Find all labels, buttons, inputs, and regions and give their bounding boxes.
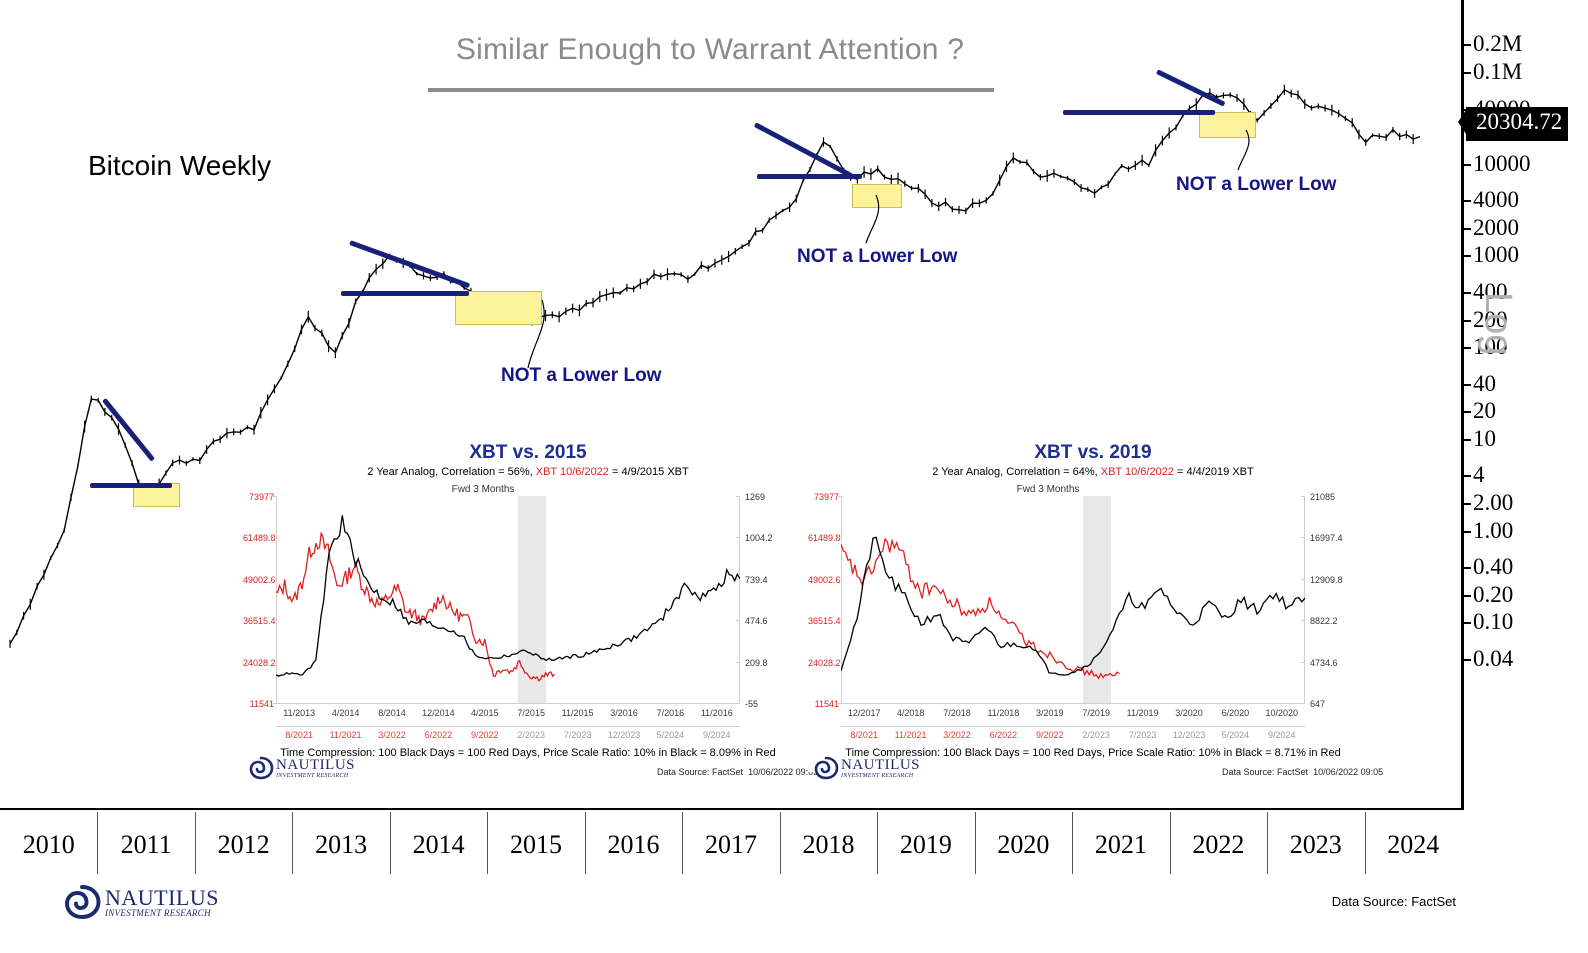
inset-x-label-black: 10/2020 — [1259, 708, 1305, 718]
annotation-not-a-lower-low-2022: NOT a Lower Low — [1176, 174, 1336, 196]
leader-line-2022 — [1230, 130, 1270, 172]
inset-right-axis-tick — [736, 579, 740, 580]
inset-x-label-black: 4/2014 — [322, 708, 368, 718]
year-axis-label: 2017 — [682, 830, 779, 860]
inset-x-label-red: 9/2024 — [694, 730, 740, 740]
inset-chart-xbt-vs-2019[interactable]: XBT vs. 2019 2 Year Analog, Correlation … — [808, 440, 1378, 772]
year-axis-label: 2010 — [0, 830, 97, 860]
nautilus-shell-icon — [813, 756, 839, 780]
year-axis-label: 2016 — [585, 830, 682, 860]
inset-x-label-black: 3/2019 — [1027, 708, 1073, 718]
footer-logo-sub: INVESTMENT RESEARCH — [105, 909, 219, 918]
inset-axis-bottom2 — [276, 726, 740, 727]
year-axis-cell[interactable]: 2014 — [390, 812, 487, 874]
inset-axis-bottom2 — [841, 726, 1305, 727]
inset-logo-sub: INVESTMENT RESEARCH — [276, 773, 355, 779]
inset-x-label-black: 11/2018 — [980, 708, 1026, 718]
inset-left-axis-tick — [838, 537, 842, 538]
inset-right-axis-tick — [736, 537, 740, 538]
inset-x-label-red: 9/2022 — [1027, 730, 1073, 740]
year-axis-label: 2019 — [877, 830, 974, 860]
price-tick-label: 4 — [1473, 462, 1485, 488]
footer-data-source: Data Source: FactSet — [1332, 894, 1456, 909]
inset-title: XBT vs. 2015 — [243, 442, 813, 464]
inset-source-text: Data Source: FactSet — [1222, 767, 1308, 777]
year-axis-label: 2020 — [975, 830, 1072, 860]
year-axis-cell[interactable]: 2013 — [292, 812, 389, 874]
inset-subtitle: 2 Year Analog, Correlation = 56%, XBT 10… — [243, 466, 813, 478]
inset-subtitle-b: = 4/9/2015 XBT — [609, 466, 689, 478]
inset-right-axis-label: 12909.8 — [1310, 575, 1343, 585]
inset-right-axis-label: 209.8 — [745, 658, 768, 668]
inset-right-axis-tick — [1301, 662, 1305, 663]
year-axis-label: 2021 — [1072, 830, 1169, 860]
inset-x-label-black: 4/2015 — [462, 708, 508, 718]
inset-left-axis-tick — [273, 537, 277, 538]
fwd-months-label: Fwd 3 Months — [363, 484, 603, 495]
inset-x-label-black: 11/2019 — [1119, 708, 1165, 718]
inset-x-label-black: 3/2020 — [1166, 708, 1212, 718]
inset-right-axis-label: 647 — [1310, 699, 1325, 709]
inset-left-axis-tick — [838, 579, 842, 580]
inset-right-axis-label: -55 — [745, 699, 758, 709]
inset-subtitle-red: XBT 10/6/2022 — [536, 466, 609, 478]
price-tick-label: 1000 — [1473, 242, 1519, 268]
inset-left-axis-tick — [273, 496, 277, 497]
inset-series-svg — [276, 496, 740, 703]
inset-left-axis-label: 36515.4 — [808, 616, 839, 626]
inset-left-axis-tick — [838, 496, 842, 497]
price-tick-label: 0.10 — [1473, 609, 1513, 635]
inset-left-axis-tick — [273, 662, 277, 663]
inset-x-label-red: 11/2021 — [887, 730, 933, 740]
inset-x-label-black: 4/2018 — [887, 708, 933, 718]
year-axis-cell[interactable]: 2021 — [1072, 812, 1169, 874]
inset-left-axis-label: 36515.4 — [243, 616, 274, 626]
inset-x-label-red: 5/2024 — [1212, 730, 1258, 740]
year-axis-label: 2024 — [1365, 830, 1462, 860]
inset-source-text: Data Source: FactSet — [657, 767, 743, 777]
inset-left-axis-tick — [273, 620, 277, 621]
last-price-badge: 20304.72 — [1466, 107, 1568, 141]
price-tick-label: 1.00 — [1473, 518, 1513, 544]
inset-x-label-red: 7/2023 — [1119, 730, 1165, 740]
inset-x-label-red: 7/2023 — [554, 730, 600, 740]
inset-x-label-black: 6/2020 — [1212, 708, 1258, 718]
inset-x-label-red: 6/2022 — [980, 730, 1026, 740]
year-axis-cell[interactable]: 2010 — [0, 812, 97, 874]
inset-right-axis-tick — [1301, 620, 1305, 621]
inset-left-axis-label: 73977 — [808, 492, 839, 502]
year-axis-label: 2022 — [1170, 830, 1267, 860]
year-axis-label: 2015 — [487, 830, 584, 860]
leader-line-2015 — [520, 300, 580, 370]
inset-x-label-red: 6/2022 — [415, 730, 461, 740]
inset-x-label-red: 5/2024 — [647, 730, 693, 740]
inset-logo-sub: INVESTMENT RESEARCH — [841, 773, 920, 779]
year-axis-cell[interactable]: 2012 — [195, 812, 292, 874]
inset-right-axis-label: 21085 — [1310, 492, 1335, 502]
inset-subtitle-b: = 4/4/2019 XBT — [1174, 466, 1254, 478]
price-tick-label: 2.00 — [1473, 490, 1513, 516]
plot-bottom-border — [0, 808, 1462, 810]
price-tick-label: 4000 — [1473, 187, 1519, 213]
nautilus-shell-icon — [248, 756, 274, 780]
annotation-not-a-lower-low-2015: NOT a Lower Low — [501, 365, 661, 387]
inset-right-axis-tick — [736, 496, 740, 497]
inset-left-axis-tick — [838, 703, 842, 704]
inset-title: XBT vs. 2019 — [808, 442, 1378, 464]
inset-left-axis-label: 24028.2 — [243, 658, 274, 668]
inset-right-axis-tick — [736, 620, 740, 621]
year-axis-cell[interactable]: 2024 — [1365, 812, 1462, 874]
inset-x-label-red: 2/2023 — [1073, 730, 1119, 740]
year-axis-cell[interactable]: 2019 — [877, 812, 974, 874]
price-tick-label: 0.04 — [1473, 646, 1513, 672]
inset-right-axis-label: 8822.2 — [1310, 616, 1338, 626]
support-2018-horizontal — [757, 174, 862, 179]
inset-left-axis-tick — [838, 662, 842, 663]
inset-logo-main: NAUTILUS — [841, 758, 920, 773]
inset-subtitle-a: 2 Year Analog, Correlation = 56%, — [367, 466, 535, 478]
year-axis-cell[interactable]: 2023 — [1267, 812, 1364, 874]
price-tick-label: 2000 — [1473, 215, 1519, 241]
year-axis-cell[interactable]: 2011 — [97, 812, 194, 874]
inset-source: Data Source: FactSet 10/06/2022 09:05 — [1222, 767, 1383, 777]
inset-left-axis-label: 11541 — [243, 699, 274, 709]
support-2022-horizontal — [1063, 110, 1215, 115]
price-tick-label: 10000 — [1473, 151, 1531, 177]
fwd-months-label: Fwd 3 Months — [928, 484, 1168, 495]
inset-x-label-black: 11/2016 — [694, 708, 740, 718]
year-axis-label: 2014 — [390, 830, 487, 860]
year-axis-cell[interactable]: 2016 — [585, 812, 682, 874]
inset-right-axis-label: 1269 — [745, 492, 765, 502]
year-axis-label: 2013 — [292, 830, 389, 860]
inset-subtitle: 2 Year Analog, Correlation = 64%, XBT 10… — [808, 466, 1378, 478]
inset-x-label-black: 7/2015 — [508, 708, 554, 718]
inset-left-axis-label: 73977 — [243, 492, 274, 502]
inset-source: Data Source: FactSet 10/06/2022 09:05 — [657, 767, 818, 777]
inset-logo: NAUTILUS INVESTMENT RESEARCH — [813, 756, 920, 780]
inset-logo: NAUTILUS INVESTMENT RESEARCH — [248, 756, 355, 780]
inset-left-axis-label: 61489.8 — [243, 533, 274, 543]
price-tick-label: 0.40 — [1473, 554, 1513, 580]
inset-x-label-red: 12/2023 — [1166, 730, 1212, 740]
year-axis-label: 2012 — [195, 830, 292, 860]
inset-x-label-red: 12/2023 — [601, 730, 647, 740]
year-axis-label: 2023 — [1267, 830, 1364, 860]
inset-left-axis-tick — [273, 703, 277, 704]
price-tick-label: 0.20 — [1473, 582, 1513, 608]
inset-right-axis-tick — [1301, 496, 1305, 497]
inset-axis-bottom — [276, 703, 740, 704]
inset-right-axis-tick — [1301, 579, 1305, 580]
inset-right-axis-tick — [1301, 537, 1305, 538]
year-axis-cell[interactable]: 2017 — [682, 812, 779, 874]
year-axis[interactable]: 2010201120122013201420152016201720182019… — [0, 812, 1462, 874]
inset-logo-main: NAUTILUS — [276, 758, 355, 773]
inset-right-axis-label: 4734.6 — [1310, 658, 1338, 668]
inset-x-label-red: 9/2022 — [462, 730, 508, 740]
footer-logo: NAUTILUS INVESTMENT RESEARCH — [62, 884, 219, 920]
inset-x-label-black: 7/2019 — [1073, 708, 1119, 718]
inset-left-axis-label: 61489.8 — [808, 533, 839, 543]
inset-subtitle-a: 2 Year Analog, Correlation = 64%, — [932, 466, 1100, 478]
price-tick-label: 10 — [1473, 426, 1496, 452]
inset-left-axis-label: 11541 — [808, 699, 839, 709]
inset-x-label-black: 12/2017 — [841, 708, 887, 718]
inset-x-label-black: 12/2014 — [415, 708, 461, 718]
inset-x-label-red: 3/2022 — [934, 730, 980, 740]
inset-x-label-black: 7/2018 — [934, 708, 980, 718]
inset-right-axis-tick — [736, 662, 740, 663]
inset-left-axis-label: 24028.2 — [808, 658, 839, 668]
inset-x-label-black: 11/2013 — [276, 708, 322, 718]
inset-axis-bottom — [841, 703, 1305, 704]
year-axis-cell[interactable]: 2020 — [975, 812, 1072, 874]
price-tick-label: 20 — [1473, 398, 1496, 424]
inset-left-axis-tick — [838, 620, 842, 621]
footer-logo-main: NAUTILUS — [105, 887, 219, 909]
year-axis-label: 2018 — [780, 830, 877, 860]
year-axis-cell[interactable]: 2022 — [1170, 812, 1267, 874]
log-scale-label: Log — [1476, 292, 1519, 355]
year-axis-cell[interactable]: 2015 — [487, 812, 584, 874]
inset-right-axis-label: 739.4 — [745, 575, 768, 585]
inset-timestamp: 10/06/2022 09:05 — [1313, 767, 1383, 777]
inset-left-axis-label: 49002.6 — [243, 575, 274, 585]
price-tick-label: 0.2M — [1473, 31, 1522, 57]
inset-left-axis-label: 49002.6 — [808, 575, 839, 585]
inset-right-axis-tick — [1301, 703, 1305, 704]
inset-chart-xbt-vs-2015[interactable]: XBT vs. 2015 2 Year Analog, Correlation … — [243, 440, 813, 772]
support-2015-horizontal — [341, 291, 469, 296]
year-axis-cell[interactable]: 2018 — [780, 812, 877, 874]
inset-x-label-black: 3/2016 — [601, 708, 647, 718]
inset-right-axis-label: 474.6 — [745, 616, 768, 626]
inset-x-label-black: 8/2014 — [369, 708, 415, 718]
inset-right-axis-label: 16997.4 — [1310, 533, 1343, 543]
year-axis-label: 2011 — [97, 830, 194, 860]
inset-x-label-red: 8/2021 — [841, 730, 887, 740]
price-tick-label: 40 — [1473, 371, 1496, 397]
price-tick-label: 0.1M — [1473, 59, 1522, 85]
inset-x-label-red: 9/2024 — [1259, 730, 1305, 740]
inset-x-label-red: 3/2022 — [369, 730, 415, 740]
nautilus-shell-icon — [62, 884, 102, 920]
inset-x-label-red: 11/2021 — [322, 730, 368, 740]
support-2011-horizontal — [90, 483, 172, 488]
inset-x-label-black: 7/2016 — [647, 708, 693, 718]
inset-subtitle-red: XBT 10/6/2022 — [1101, 466, 1174, 478]
inset-right-axis-tick — [736, 703, 740, 704]
inset-right-axis-label: 1004.2 — [745, 533, 773, 543]
inset-left-axis-tick — [273, 579, 277, 580]
leader-line-2019 — [860, 195, 900, 245]
inset-x-label-red: 2/2023 — [508, 730, 554, 740]
inset-series-svg — [841, 496, 1305, 703]
inset-x-label-black: 11/2015 — [554, 708, 600, 718]
inset-x-label-red: 8/2021 — [276, 730, 322, 740]
annotation-not-a-lower-low-2019: NOT a Lower Low — [797, 246, 957, 268]
